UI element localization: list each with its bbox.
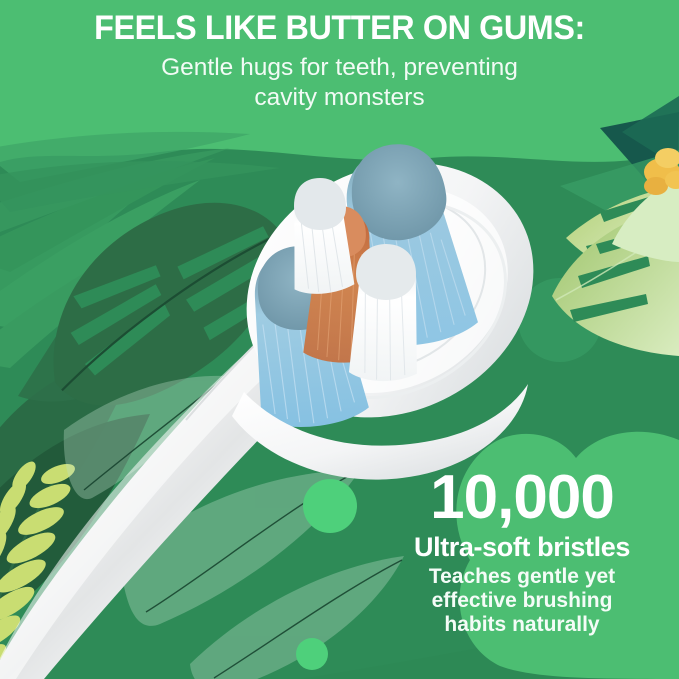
small-accent-circle <box>296 638 328 670</box>
cloud-blob <box>456 432 679 679</box>
large-accent-circle <box>303 479 357 533</box>
product-feature-poster: FEELS LIKE BUTTER ON GUMS: Gentle hugs f… <box>0 0 679 679</box>
white-tuft-lower <box>349 244 424 383</box>
background-illustration <box>0 0 679 679</box>
white-tuft-upper-tip <box>294 178 346 230</box>
white-tuft-lower-tip <box>356 244 416 300</box>
